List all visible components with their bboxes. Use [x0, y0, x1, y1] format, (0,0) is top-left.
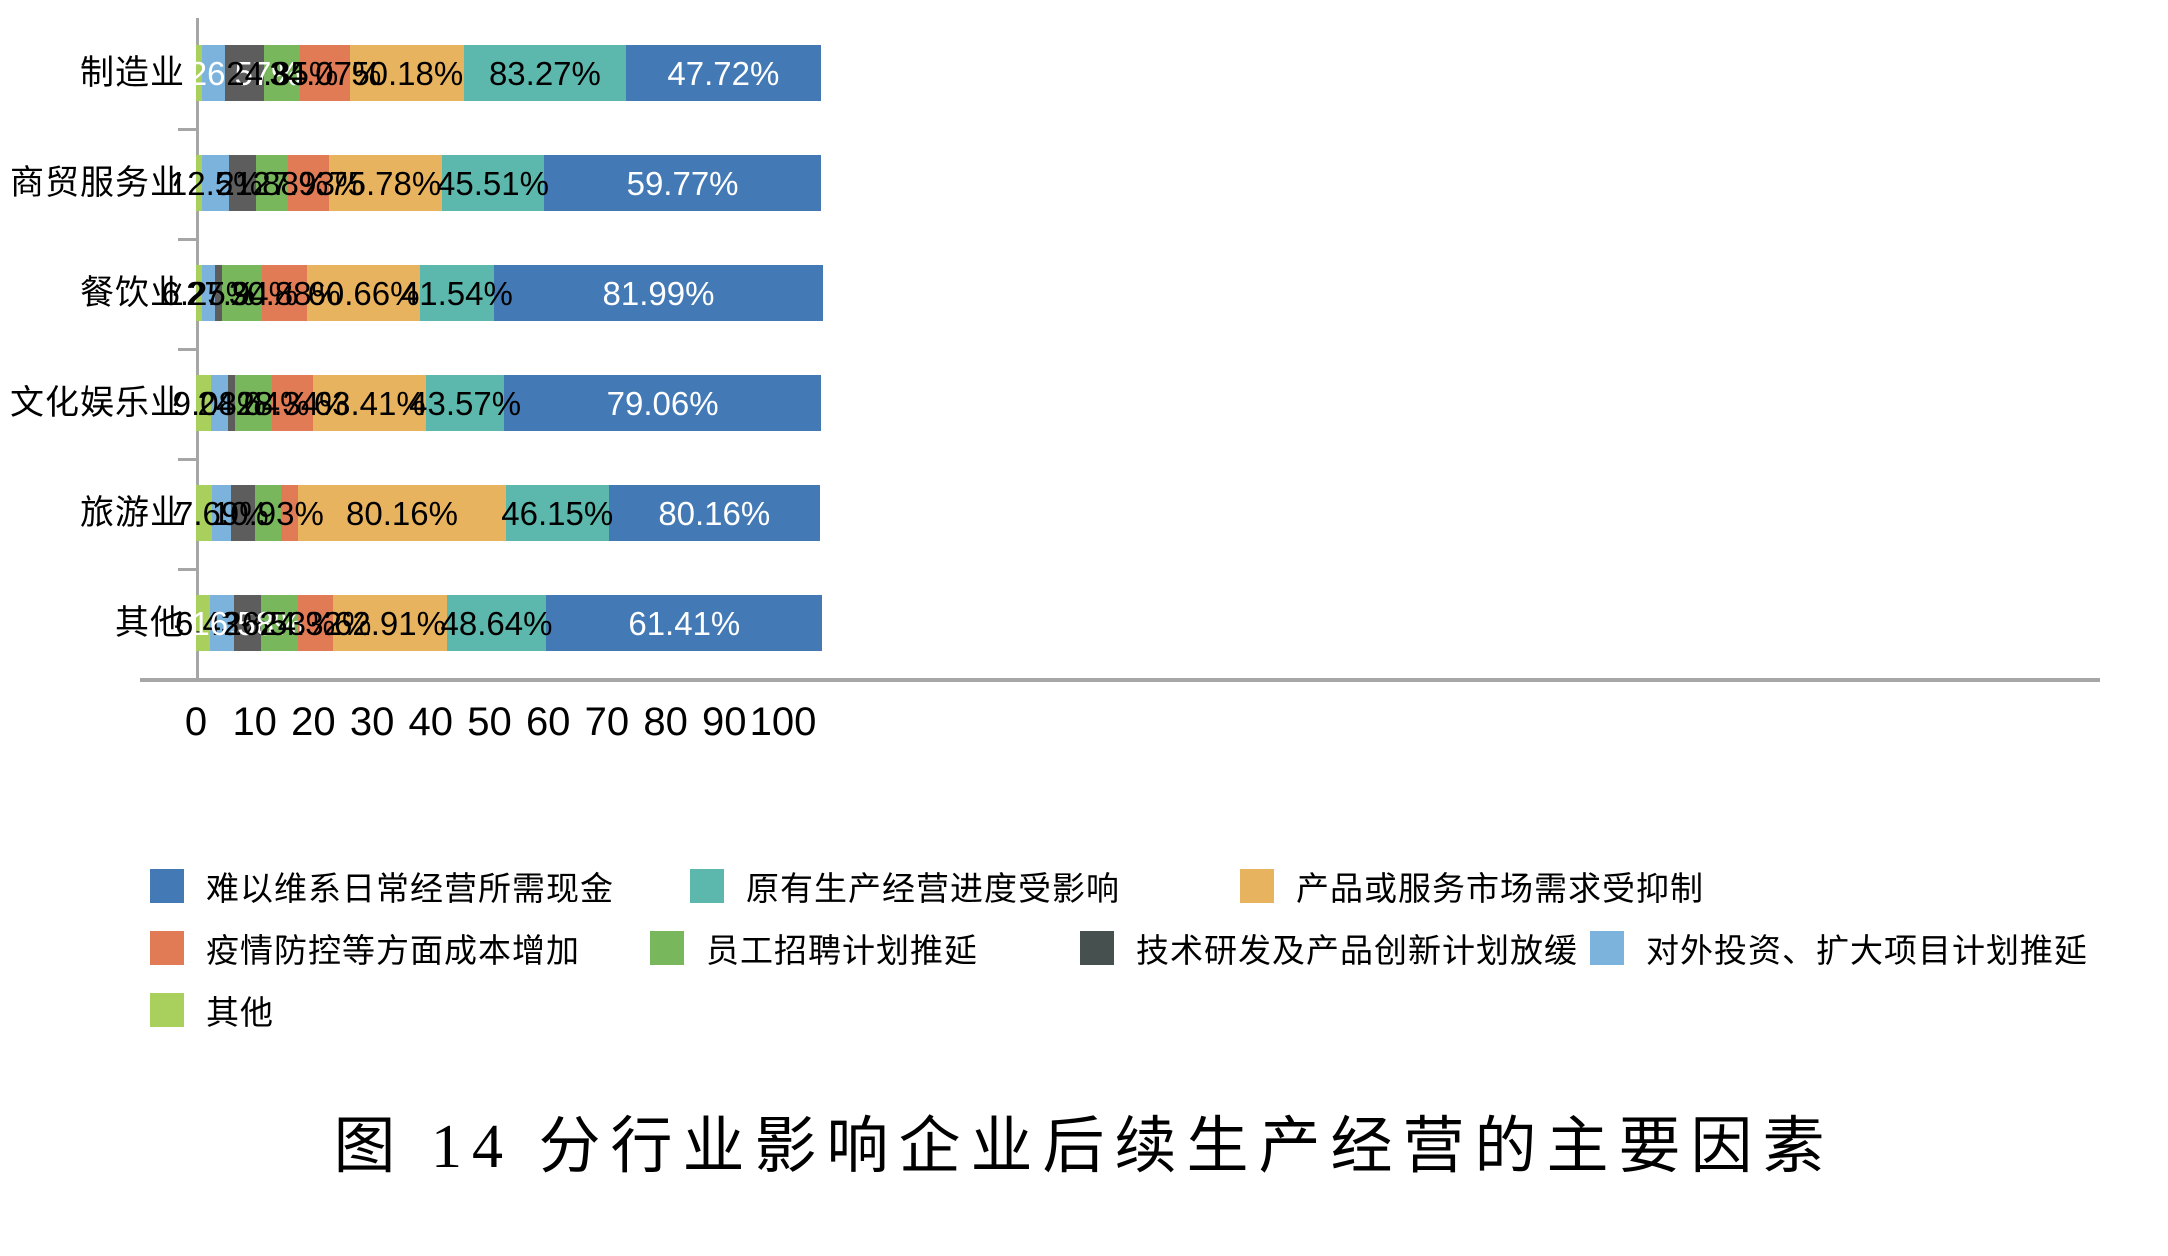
y-axis-tick [178, 568, 196, 571]
x-tick-label: 80 [643, 700, 688, 745]
chart-legend: 难以维系日常经营所需现金原有生产经营进度受影响产品或服务市场需求受抑制疫情防控等… [150, 855, 2110, 1041]
category-label: 餐饮业 [0, 276, 185, 310]
bar-segment[interactable]: 81.99% [494, 265, 823, 321]
legend-item[interactable]: 对外投资、扩大项目计划推延 [1590, 924, 2088, 972]
bar-segment[interactable]: 28.34% [272, 375, 314, 431]
segment-value-label: 83.27% [489, 57, 601, 90]
category-label: 商贸服务业 [0, 166, 185, 200]
category-label: 文化娱乐业 [0, 386, 185, 420]
legend-item[interactable]: 其他 [150, 986, 274, 1034]
segment-value-label: 75.78% [329, 167, 441, 200]
stacked-bar: 12.5%21.88%27.93%75.78%45.51%59.77% [196, 155, 821, 211]
x-tick-label: 60 [526, 700, 571, 745]
bar-segment[interactable]: 10.93% [255, 485, 280, 541]
legend-item[interactable]: 疫情防控等方面成本增加 [150, 924, 580, 972]
segment-value-label: 46.15% [501, 497, 613, 530]
segment-value-label: 43.57% [409, 387, 521, 420]
bar-row: 制造业26.57%24.85%34.07%50.18%83.27%47.72% [0, 18, 2168, 128]
stacked-bar: 26.57%24.85%34.07%50.18%83.27%47.72% [196, 45, 821, 101]
bar-row: 餐饮业6.25%27.94%30.88%60.66%41.54%81.99% [0, 238, 2168, 348]
y-axis-tick [178, 348, 196, 351]
x-tick-label: 20 [291, 700, 336, 745]
bar-segment[interactable]: 75.78% [329, 155, 442, 211]
segment-value-label: 61.41% [628, 607, 740, 640]
bar-segment[interactable]: 79.06% [504, 375, 821, 431]
bar-segment[interactable]: 34.07% [300, 45, 350, 101]
bar-segment[interactable]: 47.72% [626, 45, 821, 101]
x-axis-line [140, 678, 2100, 682]
stacked-bar: 6.43%16.58%26.53%24.32%62.91%48.64%61.41… [196, 595, 822, 651]
category-label: 其他 [0, 606, 185, 640]
bar-segment[interactable]: 46.15% [506, 485, 609, 541]
bar-segment[interactable]: 62.91% [333, 595, 446, 651]
x-tick-label: 100 [750, 700, 817, 745]
legend-label: 产品或服务市场需求受抑制 [1296, 862, 1704, 910]
plot-area: 制造业26.57%24.85%34.07%50.18%83.27%47.72%商… [0, 0, 2168, 800]
legend-swatch-icon [150, 931, 184, 965]
bar-segment[interactable]: 27.93% [288, 155, 329, 211]
legend-row: 其他 [150, 979, 2110, 1041]
legend-label: 员工招聘计划推延 [706, 924, 978, 972]
bar-row: 商贸服务业12.5%21.88%27.93%75.78%45.51%59.77% [0, 128, 2168, 238]
stacked-bar: 7.69%10.93%80.16%46.15%80.16% [196, 485, 820, 541]
bar-segment[interactable]: 24.32% [298, 595, 334, 651]
bar-segment[interactable]: 48.64% [447, 595, 547, 651]
bar-segment[interactable]: 80.16% [609, 485, 820, 541]
x-tick-label: 30 [350, 700, 395, 745]
legend-label: 疫情防控等方面成本增加 [206, 924, 580, 972]
segment-value-label: 79.06% [607, 387, 719, 420]
legend-swatch-icon [150, 869, 184, 903]
x-tick-label: 50 [467, 700, 512, 745]
segment-value-label: 62.91% [334, 607, 446, 640]
legend-swatch-icon [1590, 931, 1624, 965]
x-tick-label: 40 [409, 700, 454, 745]
stacked-bar: 9.08%24.64%28.34%63.41%43.57%79.06% [196, 375, 821, 431]
y-axis-tick [178, 458, 196, 461]
bar-segment[interactable]: 41.54% [420, 265, 495, 321]
bar-segment[interactable]: 61.41% [546, 595, 822, 651]
segment-value-label: 45.51% [437, 167, 549, 200]
segment-value-label: 10.93% [212, 497, 324, 530]
segment-value-label: 59.77% [627, 167, 739, 200]
legend-label: 难以维系日常经营所需现金 [206, 862, 614, 910]
y-axis-tick [178, 128, 196, 131]
chart-page: 制造业26.57%24.85%34.07%50.18%83.27%47.72%商… [0, 0, 2168, 1256]
legend-row: 难以维系日常经营所需现金原有生产经营进度受影响产品或服务市场需求受抑制 [150, 855, 2110, 917]
segment-value-label: 47.72% [667, 57, 779, 90]
bar-row: 其他6.43%16.58%26.53%24.32%62.91%48.64%61.… [0, 568, 2168, 678]
bar-row: 旅游业7.69%10.93%80.16%46.15%80.16% [0, 458, 2168, 568]
legend-label: 技术研发及产品创新计划放缓 [1136, 924, 1578, 972]
segment-value-label: 80.16% [658, 497, 770, 530]
segment-value-label: 81.99% [603, 277, 715, 310]
legend-label: 对外投资、扩大项目计划推延 [1646, 924, 2088, 972]
legend-swatch-icon [150, 993, 184, 1027]
legend-item[interactable]: 难以维系日常经营所需现金 [150, 862, 614, 910]
stacked-bar: 6.25%27.94%30.88%60.66%41.54%81.99% [196, 265, 823, 321]
bar-segment[interactable]: 50.18% [350, 45, 464, 101]
x-tick-label: 0 [185, 700, 207, 745]
legend-swatch-icon [1080, 931, 1114, 965]
x-tick-label: 10 [232, 700, 277, 745]
legend-label: 其他 [206, 986, 274, 1034]
legend-item[interactable]: 员工招聘计划推延 [650, 924, 978, 972]
legend-item[interactable]: 技术研发及产品创新计划放缓 [1080, 924, 1578, 972]
legend-item[interactable]: 原有生产经营进度受影响 [690, 862, 1120, 910]
bar-segment[interactable]: 80.16% [298, 485, 506, 541]
bar-rows: 制造业26.57%24.85%34.07%50.18%83.27%47.72%商… [0, 18, 2168, 678]
figure-title: 图 14 分行业影响企业后续生产经营的主要因素 [0, 1095, 2168, 1185]
legend-swatch-icon [650, 931, 684, 965]
y-axis-tick [178, 238, 196, 241]
segment-value-label: 41.54% [401, 277, 513, 310]
bar-row: 文化娱乐业9.08%24.64%28.34%63.41%43.57%79.06% [0, 348, 2168, 458]
legend-row: 疫情防控等方面成本增加员工招聘计划推延技术研发及产品创新计划放缓对外投资、扩大项… [150, 917, 2110, 979]
legend-item[interactable]: 产品或服务市场需求受抑制 [1240, 862, 1704, 910]
bar-segment[interactable]: 83.27% [464, 45, 625, 101]
x-tick-label: 90 [702, 700, 747, 745]
x-axis-tick-labels: 0102030405060708090100 [0, 700, 2168, 760]
bar-segment[interactable]: 59.77% [544, 155, 821, 211]
legend-swatch-icon [690, 869, 724, 903]
segment-value-label: 48.64% [441, 607, 553, 640]
segment-value-label: 50.18% [351, 57, 463, 90]
segment-value-label: 80.16% [346, 497, 458, 530]
legend-swatch-icon [1240, 869, 1274, 903]
category-label: 旅游业 [0, 496, 185, 530]
bar-segment[interactable]: 45.51% [442, 155, 544, 211]
legend-label: 原有生产经营进度受影响 [746, 862, 1120, 910]
x-tick-label: 70 [585, 700, 630, 745]
bar-segment[interactable]: 30.88% [262, 265, 307, 321]
bar-segment[interactable]: 43.57% [426, 375, 504, 431]
category-label: 制造业 [0, 56, 185, 90]
